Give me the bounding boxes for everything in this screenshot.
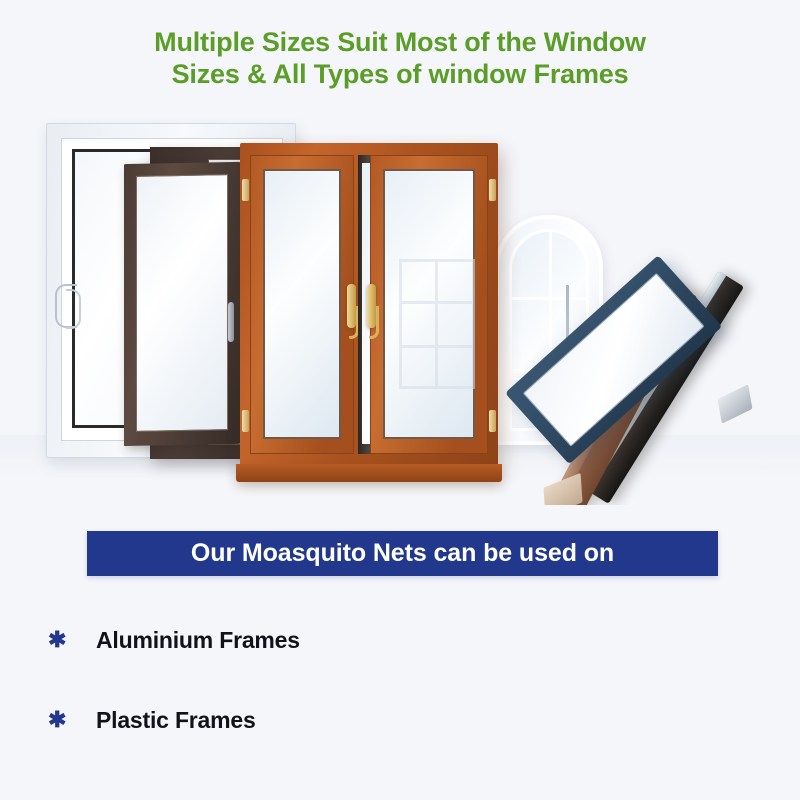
list-item: ✱ Plastic Frames [0, 680, 400, 760]
asterisk-bullet-icon: ✱ [48, 709, 72, 731]
promo-banner-page: Multiple Sizes Suit Most of the Window S… [0, 0, 800, 800]
dark-window-leaf-glass [136, 174, 228, 432]
section-banner-label: Our Moasquito Nets can be used on [191, 539, 614, 568]
wooden-window-left-leaf [250, 155, 354, 454]
arch-window-mullion-horizontal-1 [511, 297, 587, 300]
list-item-label: Aluminium Frames [96, 627, 300, 654]
wooden-window-right-handle-icon [367, 284, 376, 328]
list-item: ✱ Wooden Frames [400, 600, 800, 680]
list-item: ✱ UPVC Frames & more... [400, 680, 800, 760]
dark-tilted-frame-end-cap [718, 384, 753, 423]
wooden-window-sill [236, 464, 502, 482]
dark-window-open-leaf [124, 162, 240, 446]
page-title-line-2: Sizes & All Types of window Frames [40, 58, 760, 90]
wooden-window-hinge-bottom-left-icon [242, 410, 249, 432]
asterisk-bullet-icon: ✱ [48, 629, 72, 651]
wooden-window-right-glass [383, 169, 475, 439]
wooden-window-right-leaf [370, 155, 488, 454]
list-item-label: Plastic Frames [96, 707, 256, 734]
frame-types-list: ✱ Aluminium Frames ✱ Wooden Frames ✱ Pla… [0, 600, 800, 760]
dark-window-leaf-handle-icon [228, 302, 234, 342]
wooden-window-left-glass [263, 169, 341, 439]
page-title: Multiple Sizes Suit Most of the Window S… [40, 26, 760, 90]
wooden-double-casement-window [240, 143, 498, 468]
section-banner: Our Moasquito Nets can be used on [87, 531, 718, 576]
wooden-window-hinge-bottom-right-icon [489, 410, 496, 432]
wooden-window-hinge-top-left-icon [242, 179, 249, 201]
hero-product-image [0, 105, 800, 505]
wooden-window-hinge-top-right-icon [489, 179, 496, 201]
wooden-window-left-handle-icon [347, 284, 356, 328]
grid-pane-reflection [399, 259, 475, 389]
list-item: ✱ Aluminium Frames [0, 600, 400, 680]
sliding-door-handle-icon [55, 284, 77, 328]
page-title-line-1: Multiple Sizes Suit Most of the Window [40, 26, 760, 58]
